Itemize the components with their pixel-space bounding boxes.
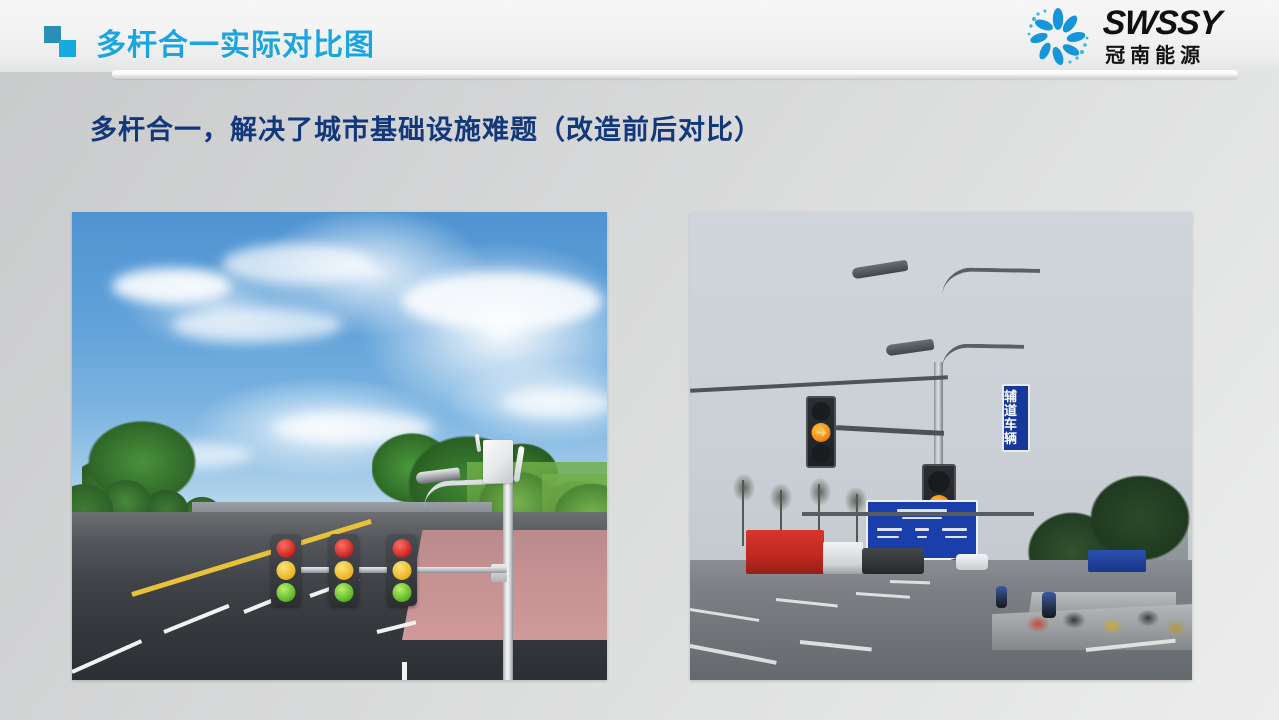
- photo-tree-trunk: [742, 480, 744, 546]
- cg-lane-dash: [402, 662, 407, 680]
- photo-sign-text-line: [902, 517, 942, 520]
- cg-cloud: [112, 268, 232, 304]
- cg-red-lamp-icon: [335, 539, 354, 558]
- company-logo: SWSSY 冠南能源: [1025, 6, 1221, 68]
- cg-green-lamp-icon: [393, 583, 412, 602]
- image-before-cg-rendering: [72, 212, 607, 680]
- cg-cloud: [172, 308, 342, 342]
- cg-red-lamp-icon: [277, 539, 296, 558]
- logo-text-block: SWSSY 冠南能源: [1103, 6, 1221, 68]
- photo-sign-text-line: [915, 528, 929, 531]
- cg-green-lamp-icon: [335, 583, 354, 602]
- cg-yellow-lamp-icon: [393, 561, 412, 580]
- water-droplet-petals-icon: [1025, 6, 1091, 68]
- photo-dark-vehicle: [862, 548, 924, 574]
- page-title: 多杆合一实际对比图: [96, 20, 375, 64]
- photo-red-box-truck: [746, 530, 824, 574]
- photo-lamp-off-icon: [928, 471, 950, 493]
- photo-blue-tarp: [1088, 550, 1146, 572]
- cg-cloud: [222, 244, 372, 284]
- photo-sign-text-line: [917, 536, 928, 539]
- cg-yellow-lamp-icon: [335, 561, 354, 580]
- photo-street-lamp-arm-lower: [942, 343, 1024, 370]
- photo-traffic-light-left: ➜: [806, 396, 836, 468]
- photo-right-arrow-icon: ➜: [812, 423, 831, 442]
- photo-street-lamp-arm-upper: [942, 267, 1041, 299]
- slide-header: 多杆合一实际对比图: [0, 0, 1279, 72]
- photo-bare-tree: [726, 474, 762, 520]
- logo-latin-name: SWSSY: [1102, 6, 1222, 40]
- cg-green-lamp-icon: [277, 583, 296, 602]
- photo-cyclist: [1042, 592, 1056, 618]
- header-accent-squares-icon: [44, 26, 80, 56]
- cg-red-lamp-icon: [393, 539, 412, 558]
- photo-white-truck-cab: [823, 542, 863, 574]
- header-divider: [112, 70, 1238, 79]
- photo-white-car: [956, 554, 988, 570]
- photo-sign-text-line: [945, 536, 967, 539]
- photo-cyclist: [996, 586, 1007, 608]
- photo-sign-text-line: [877, 528, 902, 531]
- slide-subtitle: 多杆合一，解决了城市基础设施难题（改造前后对比）: [90, 108, 762, 147]
- cg-cloud: [402, 272, 602, 330]
- photo-lamp-off-icon: [812, 444, 831, 463]
- photo-distant-signal-gantry: [802, 512, 1034, 516]
- cg-5g-antenna-box: [483, 440, 513, 483]
- cg-traffic-light: [271, 534, 301, 606]
- photo-vertical-sign-fudao-cheliang: 辅道车辆: [1002, 384, 1030, 452]
- photo-sign-text-line: [942, 528, 967, 531]
- cg-traffic-light: [329, 534, 359, 606]
- logo-chinese-name: 冠南能源: [1105, 44, 1205, 68]
- cg-yellow-lamp-icon: [277, 561, 296, 580]
- cg-traffic-light: [387, 534, 417, 606]
- accent-square-light-icon: [59, 40, 76, 57]
- photo-bare-tree: [802, 478, 838, 524]
- photo-sign-text-line: [877, 536, 899, 539]
- image-after-real-photo: ➜ 辅道车辆: [690, 212, 1192, 680]
- photo-lamp-off-icon: [812, 402, 831, 421]
